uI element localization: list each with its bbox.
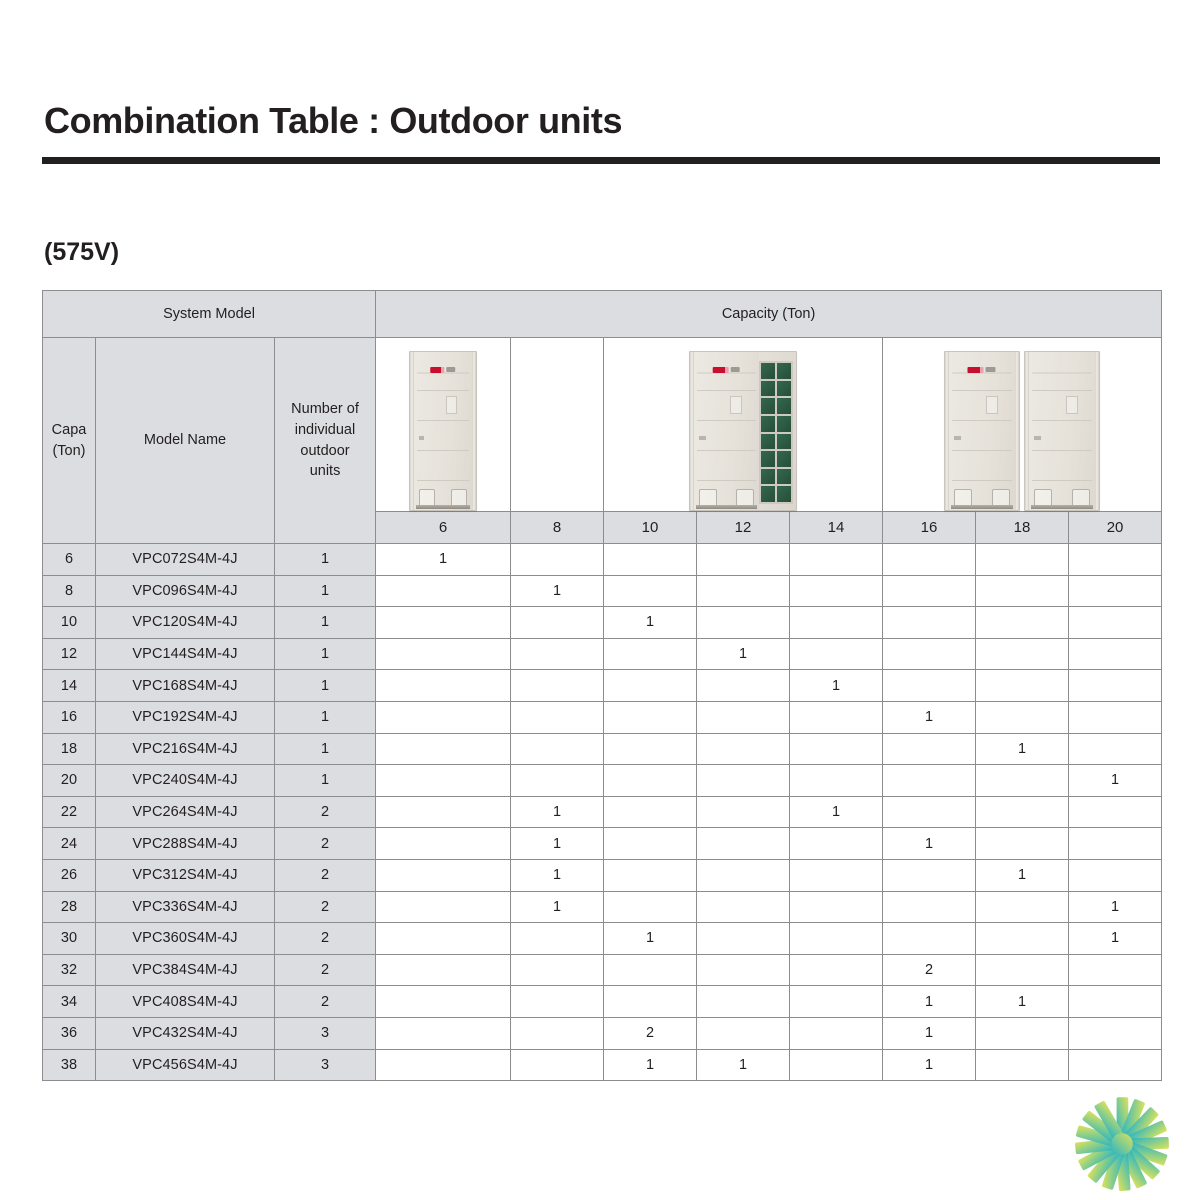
cell-capacity-12: 1 <box>697 1049 790 1081</box>
combination-table-wrapper: System Model Capacity (Ton) Capa (Ton) M… <box>42 290 1161 1081</box>
cell-capa: 20 <box>43 765 96 797</box>
cell-capacity-16: 1 <box>883 986 976 1018</box>
capacity-column-header-12: 12 <box>697 512 790 544</box>
unit-edge-right <box>472 352 476 510</box>
cell-capacity-16 <box>883 859 976 891</box>
cell-capacity-12 <box>697 986 790 1018</box>
unit-base-rail <box>696 505 757 509</box>
unit-image-cell-single <box>376 338 511 512</box>
cell-capacity-8: 1 <box>511 828 604 860</box>
cell-capacity-6 <box>376 796 511 828</box>
cell-capacity-18: 1 <box>976 733 1069 765</box>
cell-capacity-18 <box>976 701 1069 733</box>
cell-capacity-18 <box>976 638 1069 670</box>
cell-capacity-6 <box>376 923 511 955</box>
cell-model-name: VPC264S4M-4J <box>96 796 275 828</box>
lennox-logo-wordmark <box>730 367 740 372</box>
unit-access-hatch <box>1066 396 1078 413</box>
capacity-column-header-18: 18 <box>976 512 1069 544</box>
unit-image-cell-double <box>883 338 1162 512</box>
table-row: 18VPC216S4M-4J11 <box>43 733 1162 765</box>
cell-capacity-8 <box>511 607 604 639</box>
cell-capacity-8: 1 <box>511 575 604 607</box>
cell-capacity-10: 2 <box>604 1017 697 1049</box>
cell-model-name: VPC168S4M-4J <box>96 670 275 702</box>
cell-num-units: 3 <box>275 1049 376 1081</box>
cell-num-units: 2 <box>275 954 376 986</box>
cell-capacity-20: 1 <box>1069 891 1162 923</box>
group-header-capacity: Capacity (Ton) <box>376 291 1162 338</box>
cell-capacity-6 <box>376 765 511 797</box>
cell-capacity-14 <box>790 1017 883 1049</box>
cell-capacity-6 <box>376 954 511 986</box>
cell-capacity-10 <box>604 575 697 607</box>
cell-capa: 14 <box>43 670 96 702</box>
cell-capacity-8 <box>511 923 604 955</box>
lennox-logo-wordmark <box>447 367 456 372</box>
table-row: 12VPC144S4M-4J11 <box>43 638 1162 670</box>
col-header-num-units-line4: units <box>275 461 375 482</box>
col-header-capa-line1: Capa <box>43 420 95 441</box>
cell-capa: 34 <box>43 986 96 1018</box>
cell-capacity-14 <box>790 733 883 765</box>
cell-num-units: 2 <box>275 923 376 955</box>
cell-capacity-8 <box>511 954 604 986</box>
title-underline-rule <box>42 157 1160 164</box>
col-header-capa: Capa (Ton) <box>43 338 96 544</box>
cell-model-name: VPC384S4M-4J <box>96 954 275 986</box>
cell-model-name: VPC144S4M-4J <box>96 638 275 670</box>
table-row: 30VPC360S4M-4J211 <box>43 923 1162 955</box>
cell-capacity-6 <box>376 638 511 670</box>
unit-access-hatch <box>446 396 456 413</box>
cell-capacity-6 <box>376 733 511 765</box>
cell-capa: 26 <box>43 859 96 891</box>
cell-capacity-12 <box>697 828 790 860</box>
capacity-column-header-20: 20 <box>1069 512 1162 544</box>
cell-capacity-20 <box>1069 1049 1162 1081</box>
cell-capacity-14 <box>790 701 883 733</box>
cell-capacity-6 <box>376 670 511 702</box>
cell-capa: 10 <box>43 607 96 639</box>
cell-capacity-18 <box>976 670 1069 702</box>
cell-capacity-14 <box>790 575 883 607</box>
cell-capacity-20 <box>1069 638 1162 670</box>
cell-capa: 36 <box>43 1017 96 1049</box>
cell-capacity-10: 1 <box>604 1049 697 1081</box>
lennox-logo-icon <box>712 366 741 373</box>
table-row: 8VPC096S4M-4J11 <box>43 575 1162 607</box>
cell-capacity-16 <box>883 638 976 670</box>
cell-capacity-18 <box>976 891 1069 923</box>
cell-capacity-12 <box>697 670 790 702</box>
cell-capacity-16: 1 <box>883 701 976 733</box>
col-header-model-name: Model Name <box>96 338 275 544</box>
cell-capacity-14 <box>790 765 883 797</box>
cell-capacity-10 <box>604 544 697 576</box>
cell-capacity-10 <box>604 701 697 733</box>
table-row: 20VPC240S4M-4J11 <box>43 765 1162 797</box>
cell-capacity-8 <box>511 733 604 765</box>
cell-model-name: VPC192S4M-4J <box>96 701 275 733</box>
cell-capacity-10 <box>604 986 697 1018</box>
cell-num-units: 2 <box>275 891 376 923</box>
unit-image-cell-empty <box>511 338 604 512</box>
cell-capacity-10: 1 <box>604 923 697 955</box>
table-row: 22VPC264S4M-4J211 <box>43 796 1162 828</box>
cell-capacity-16 <box>883 765 976 797</box>
cell-capa: 6 <box>43 544 96 576</box>
table-row: 34VPC408S4M-4J211 <box>43 986 1162 1018</box>
cell-capacity-12 <box>697 575 790 607</box>
heat-exchanger-grille-icon <box>759 361 793 504</box>
cell-capacity-18 <box>976 1017 1069 1049</box>
cell-capacity-18: 1 <box>976 859 1069 891</box>
cell-capacity-6 <box>376 891 511 923</box>
outdoor-unit-icon-left <box>944 351 1020 511</box>
table-row: 6VPC072S4M-4J11 <box>43 544 1162 576</box>
capacity-column-header-14: 14 <box>790 512 883 544</box>
outdoor-unit-icon-single <box>409 351 477 511</box>
col-header-num-units-line3: outdoor <box>275 441 375 462</box>
cell-model-name: VPC336S4M-4J <box>96 891 275 923</box>
cell-capacity-12 <box>697 923 790 955</box>
col-header-num-units: Number of individual outdoor units <box>275 338 376 544</box>
unit-stage-grille <box>604 338 882 511</box>
unit-body <box>694 352 759 510</box>
cell-capacity-8: 1 <box>511 891 604 923</box>
table-body: 6VPC072S4M-4J118VPC096S4M-4J1110VPC120S4… <box>43 544 1162 1081</box>
cell-capacity-8 <box>511 670 604 702</box>
cell-capacity-6 <box>376 607 511 639</box>
cell-capacity-8 <box>511 1017 604 1049</box>
cell-capacity-16 <box>883 733 976 765</box>
unit-body <box>1029 352 1095 510</box>
table-row: 32VPC384S4M-4J22 <box>43 954 1162 986</box>
cell-capacity-12 <box>697 733 790 765</box>
unit-base-rail <box>951 505 1013 509</box>
cell-model-name: VPC312S4M-4J <box>96 859 275 891</box>
outdoor-unit-icon-right <box>1024 351 1100 511</box>
cell-capacity-18 <box>976 765 1069 797</box>
cell-capacity-12 <box>697 765 790 797</box>
cell-capacity-12 <box>697 544 790 576</box>
unit-access-hatch <box>986 396 998 413</box>
cell-capacity-14 <box>790 954 883 986</box>
cell-capacity-10 <box>604 796 697 828</box>
cell-capa: 18 <box>43 733 96 765</box>
unit-vent-slot <box>699 436 706 441</box>
cell-capacity-14 <box>790 828 883 860</box>
cell-capacity-20: 1 <box>1069 765 1162 797</box>
cell-capacity-12 <box>697 701 790 733</box>
cell-capacity-10 <box>604 638 697 670</box>
cell-capacity-16: 1 <box>883 1049 976 1081</box>
cell-num-units: 1 <box>275 575 376 607</box>
cell-num-units: 3 <box>275 1017 376 1049</box>
cell-capacity-10 <box>604 670 697 702</box>
unit-stage-single <box>376 338 510 511</box>
cell-capa: 22 <box>43 796 96 828</box>
cell-capa: 12 <box>43 638 96 670</box>
table-group-header-row: System Model Capacity (Ton) <box>43 291 1162 338</box>
cell-capacity-12 <box>697 796 790 828</box>
cell-capacity-14 <box>790 923 883 955</box>
cell-capacity-20 <box>1069 796 1162 828</box>
sunburst-logo <box>1068 1094 1176 1194</box>
cell-model-name: VPC096S4M-4J <box>96 575 275 607</box>
cell-capacity-18 <box>976 796 1069 828</box>
lennox-logo-mark <box>712 367 728 373</box>
cell-model-name: VPC456S4M-4J <box>96 1049 275 1081</box>
cell-num-units: 1 <box>275 670 376 702</box>
cell-num-units: 1 <box>275 733 376 765</box>
voltage-subtitle: (575V) <box>44 238 119 267</box>
cell-capacity-10 <box>604 954 697 986</box>
group-header-system-model: System Model <box>43 291 376 338</box>
combination-table: System Model Capacity (Ton) Capa (Ton) M… <box>42 290 1162 1081</box>
cell-num-units: 1 <box>275 607 376 639</box>
cell-capacity-8 <box>511 1049 604 1081</box>
table-row: 28VPC336S4M-4J211 <box>43 891 1162 923</box>
cell-num-units: 2 <box>275 796 376 828</box>
cell-capacity-6 <box>376 986 511 1018</box>
cell-capacity-18 <box>976 607 1069 639</box>
col-header-num-units-line1: Number of <box>275 399 375 420</box>
unit-base-rail <box>1031 505 1093 509</box>
cell-model-name: VPC072S4M-4J <box>96 544 275 576</box>
cell-capacity-12 <box>697 954 790 986</box>
capacity-column-header-16: 16 <box>883 512 976 544</box>
cell-capacity-8: 1 <box>511 859 604 891</box>
cell-capacity-14 <box>790 638 883 670</box>
cell-capacity-18 <box>976 544 1069 576</box>
lennox-logo-mark <box>968 367 984 373</box>
cell-capacity-8 <box>511 986 604 1018</box>
table-row: 14VPC168S4M-4J11 <box>43 670 1162 702</box>
cell-capacity-14 <box>790 1049 883 1081</box>
cell-capacity-16 <box>883 670 976 702</box>
table-row: 16VPC192S4M-4J11 <box>43 701 1162 733</box>
lennox-logo-wordmark <box>986 367 996 372</box>
cell-capacity-20 <box>1069 575 1162 607</box>
cell-capacity-16 <box>883 607 976 639</box>
table-row: 38VPC456S4M-4J3111 <box>43 1049 1162 1081</box>
lennox-logo-mark <box>430 367 444 373</box>
cell-num-units: 1 <box>275 638 376 670</box>
unit-vent-slot <box>419 436 425 441</box>
cell-capacity-20 <box>1069 954 1162 986</box>
cell-model-name: VPC360S4M-4J <box>96 923 275 955</box>
unit-edge-right <box>1095 352 1099 510</box>
lennox-logo-icon <box>430 366 456 373</box>
cell-capacity-20 <box>1069 701 1162 733</box>
cell-capacity-18 <box>976 1049 1069 1081</box>
unit-body <box>949 352 1015 510</box>
capacity-column-header-8: 8 <box>511 512 604 544</box>
cell-capacity-16 <box>883 575 976 607</box>
cell-num-units: 2 <box>275 986 376 1018</box>
cell-model-name: VPC120S4M-4J <box>96 607 275 639</box>
cell-num-units: 1 <box>275 544 376 576</box>
cell-capacity-10 <box>604 765 697 797</box>
cell-capacity-6 <box>376 1049 511 1081</box>
cell-capacity-16 <box>883 923 976 955</box>
unit-body <box>414 352 472 510</box>
cell-capacity-10 <box>604 859 697 891</box>
unit-vent-slot <box>1034 436 1041 441</box>
cell-capacity-6 <box>376 701 511 733</box>
cell-capacity-10: 1 <box>604 607 697 639</box>
table-row: 24VPC288S4M-4J211 <box>43 828 1162 860</box>
cell-capacity-12 <box>697 607 790 639</box>
cell-capacity-14 <box>790 544 883 576</box>
lennox-logo-icon <box>968 366 997 373</box>
cell-capacity-12 <box>697 891 790 923</box>
cell-capacity-10 <box>604 828 697 860</box>
outdoor-unit-icon-with-grille <box>689 351 797 511</box>
cell-capacity-8 <box>511 544 604 576</box>
unit-stage-double <box>883 338 1161 511</box>
cell-capacity-16 <box>883 891 976 923</box>
cell-capacity-8: 1 <box>511 796 604 828</box>
cell-capacity-16 <box>883 544 976 576</box>
cell-capacity-10 <box>604 891 697 923</box>
cell-capa: 30 <box>43 923 96 955</box>
cell-capacity-14 <box>790 859 883 891</box>
cell-capacity-6 <box>376 859 511 891</box>
cell-capacity-20 <box>1069 544 1162 576</box>
cell-capacity-14: 1 <box>790 670 883 702</box>
cell-capa: 28 <box>43 891 96 923</box>
cell-model-name: VPC432S4M-4J <box>96 1017 275 1049</box>
cell-model-name: VPC288S4M-4J <box>96 828 275 860</box>
cell-capacity-10 <box>604 733 697 765</box>
cell-capa: 32 <box>43 954 96 986</box>
cell-num-units: 1 <box>275 701 376 733</box>
cell-capacity-18: 1 <box>976 986 1069 1018</box>
cell-capacity-12: 1 <box>697 638 790 670</box>
cell-capacity-20 <box>1069 828 1162 860</box>
cell-num-units: 2 <box>275 859 376 891</box>
cell-model-name: VPC216S4M-4J <box>96 733 275 765</box>
unit-base-rail <box>416 505 471 509</box>
unit-access-hatch <box>730 396 742 413</box>
col-header-capa-line2: (Ton) <box>43 441 95 462</box>
cell-capacity-18 <box>976 575 1069 607</box>
cell-capacity-16: 1 <box>883 828 976 860</box>
cell-capacity-12 <box>697 859 790 891</box>
page-root: Combination Table : Outdoor units (575V)… <box>0 0 1200 1200</box>
cell-capacity-20 <box>1069 859 1162 891</box>
cell-capa: 16 <box>43 701 96 733</box>
cell-capacity-8 <box>511 638 604 670</box>
cell-capacity-16: 1 <box>883 1017 976 1049</box>
cell-capa: 38 <box>43 1049 96 1081</box>
cell-num-units: 2 <box>275 828 376 860</box>
cell-capacity-14 <box>790 986 883 1018</box>
cell-capacity-20: 1 <box>1069 923 1162 955</box>
cell-capacity-20 <box>1069 670 1162 702</box>
cell-capacity-6: 1 <box>376 544 511 576</box>
cell-capacity-18 <box>976 828 1069 860</box>
cell-capacity-20 <box>1069 733 1162 765</box>
cell-capa: 8 <box>43 575 96 607</box>
table-row: 10VPC120S4M-4J11 <box>43 607 1162 639</box>
capacity-column-header-10: 10 <box>604 512 697 544</box>
capacity-column-header-6: 6 <box>376 512 511 544</box>
table-column-header-row: Capa (Ton) Model Name Number of individu… <box>43 338 1162 512</box>
cell-capa: 24 <box>43 828 96 860</box>
cell-model-name: VPC408S4M-4J <box>96 986 275 1018</box>
unit-vent-slot <box>954 436 961 441</box>
cell-capacity-18 <box>976 923 1069 955</box>
cell-capacity-14: 1 <box>790 796 883 828</box>
cell-capacity-20 <box>1069 986 1162 1018</box>
col-header-num-units-line2: individual <box>275 420 375 441</box>
cell-capacity-8 <box>511 765 604 797</box>
cell-capacity-12 <box>697 1017 790 1049</box>
table-row: 36VPC432S4M-4J321 <box>43 1017 1162 1049</box>
cell-num-units: 1 <box>275 765 376 797</box>
cell-capacity-14 <box>790 607 883 639</box>
unit-image-cell-grille <box>604 338 883 512</box>
cell-capacity-16 <box>883 796 976 828</box>
page-title: Combination Table : Outdoor units <box>44 100 622 142</box>
cell-capacity-6 <box>376 575 511 607</box>
cell-model-name: VPC240S4M-4J <box>96 765 275 797</box>
cell-capacity-20 <box>1069 607 1162 639</box>
cell-capacity-18 <box>976 954 1069 986</box>
cell-capacity-16: 2 <box>883 954 976 986</box>
cell-capacity-6 <box>376 1017 511 1049</box>
cell-capacity-8 <box>511 701 604 733</box>
cell-capacity-6 <box>376 828 511 860</box>
cell-capacity-14 <box>790 891 883 923</box>
table-row: 26VPC312S4M-4J211 <box>43 859 1162 891</box>
unit-edge-right <box>1015 352 1019 510</box>
cell-capacity-20 <box>1069 1017 1162 1049</box>
